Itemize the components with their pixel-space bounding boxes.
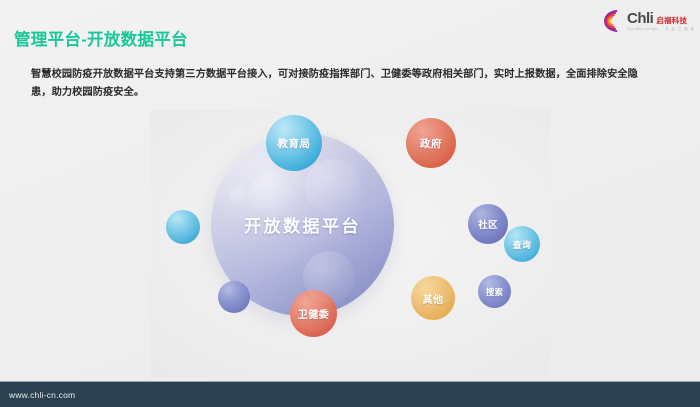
sphere-highlight-icon xyxy=(229,185,251,207)
node-bubble-jiaoyuju[interactable]: 教育局 xyxy=(266,115,322,171)
page-title: 管理平台-开放数据平台 xyxy=(14,26,188,50)
logo-company-cn: 启福科技 xyxy=(656,17,687,25)
logo-text: Chli 启福科技 The orient of light 天 启 之 福 泽 xyxy=(627,11,695,31)
node-bubble-chaxun[interactable]: 查询 xyxy=(504,226,540,262)
logo-tagline-cn: 天 启 之 福 泽 xyxy=(665,27,695,31)
logo-wordmark: Chli xyxy=(627,11,653,26)
brand-logo: Chli 启福科技 The orient of light 天 启 之 福 泽 xyxy=(600,6,692,36)
node-label: 卫健委 xyxy=(298,306,330,321)
node-bubble-sousuo[interactable]: 搜索 xyxy=(478,275,511,308)
slide-footer: www.chli-cn.com xyxy=(0,381,700,407)
node-bubble-qita[interactable]: 其他 xyxy=(411,276,455,320)
logo-tagline: The orient of light 天 启 之 福 泽 xyxy=(627,28,695,31)
node-label: 政府 xyxy=(420,136,442,151)
node-label: 其他 xyxy=(423,291,444,306)
node-label: 搜索 xyxy=(486,286,504,298)
logo-tagline-en: The orient of light xyxy=(627,27,658,31)
chli-fan-logo-icon xyxy=(600,8,624,34)
decorative-bubble-cyan xyxy=(166,210,200,244)
sphere-highlight-icon xyxy=(305,159,361,215)
node-label: 教育局 xyxy=(277,136,310,151)
open-data-platform-diagram: 开放数据平台 教育局 政府 社区 查询 搜索 卫健委 其他 xyxy=(150,110,550,378)
body-paragraph: 智慧校园防疫开放数据平台支持第三方数据平台接入，可对接防疫指挥部门、卫健委等政府… xyxy=(31,66,651,101)
node-label: 查询 xyxy=(513,238,532,251)
footer-website-url[interactable]: www.chli-cn.com xyxy=(9,390,75,400)
bubble-halo-icon xyxy=(160,204,206,250)
node-bubble-shequ[interactable]: 社区 xyxy=(468,204,508,244)
sphere-highlight-icon xyxy=(249,173,293,217)
sphere-highlight-icon xyxy=(303,251,355,303)
core-sphere-label: 开放数据平台 xyxy=(244,212,361,237)
node-bubble-zhengfu[interactable]: 政府 xyxy=(406,118,456,168)
slide: 管理平台-开放数据平台 Chli 启福科技 xyxy=(0,0,700,407)
slide-header: 管理平台-开放数据平台 Chli 启福科技 xyxy=(0,0,700,52)
decorative-bubble-purple xyxy=(218,281,250,313)
node-label: 社区 xyxy=(478,217,498,231)
